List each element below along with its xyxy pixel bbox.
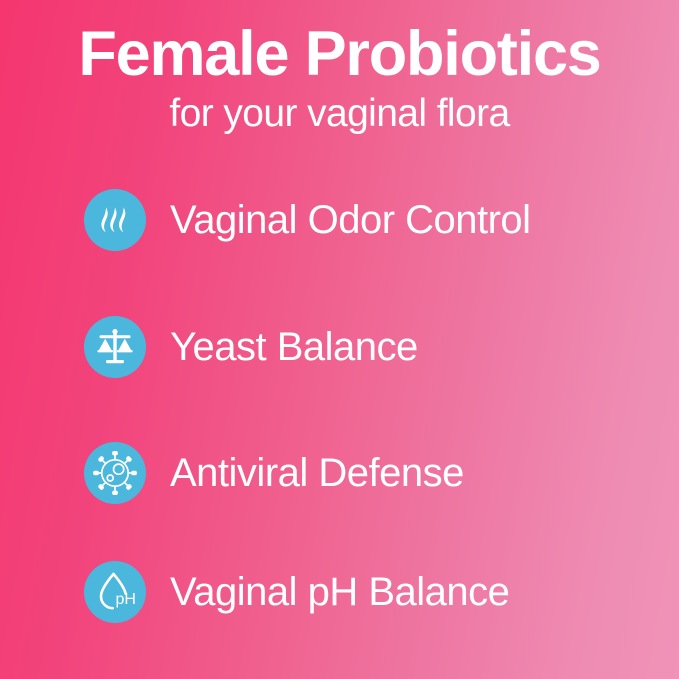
benefit-label: Yeast Balance (170, 327, 418, 367)
ph-droplet-icon: pH (84, 561, 146, 623)
benefit-item-antiviral-defense: Antiviral Defense (84, 441, 464, 505)
header-block: Female Probiotics for your vaginal flora (0, 0, 679, 135)
benefit-label: Antiviral Defense (170, 453, 464, 493)
balance-scales-icon (84, 316, 146, 378)
benefit-item-odor-control: Vaginal Odor Control (84, 188, 531, 252)
benefit-label: Vaginal pH Balance (170, 572, 509, 612)
product-feature-graphic: Female Probiotics for your vaginal flora… (0, 0, 679, 679)
benefit-item-yeast-balance: Yeast Balance (84, 315, 418, 379)
odor-waves-icon (84, 189, 146, 251)
page-subtitle: for your vaginal flora (0, 86, 679, 135)
benefit-list: Vaginal Odor Control Yeas (0, 178, 679, 678)
benefit-label: Vaginal Odor Control (170, 200, 531, 240)
benefit-item-ph-balance: pH Vaginal pH Balance (84, 560, 509, 624)
ph-icon-text: pH (116, 591, 136, 608)
page-title: Female Probiotics (0, 0, 679, 86)
virus-icon (84, 442, 146, 504)
